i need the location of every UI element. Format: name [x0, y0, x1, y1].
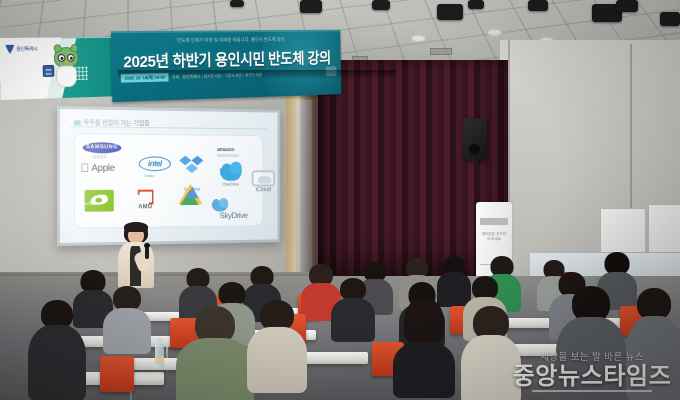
wall-speaker [463, 118, 487, 160]
logo-skydrive: SkyDrive [208, 203, 259, 221]
person-head [404, 298, 444, 348]
speaker-mount-bracket [474, 160, 478, 168]
logo-amazon: amazon webservices [217, 147, 264, 158]
projection-screen: 우주를 만들어 가는 기업들 SAMSUNG 삼성전자  Apple inte… [60, 109, 278, 243]
mascot-eye-left [58, 54, 66, 62]
person-torso [461, 335, 521, 400]
bottle-label [155, 356, 164, 364]
stage-light-3 [437, 4, 463, 20]
person-torso [247, 327, 307, 393]
stage-light-1 [300, 0, 322, 13]
ceiling-downlight-2 [488, 30, 501, 35]
presenter-fringe [124, 222, 148, 232]
logo-nvidia [85, 190, 114, 212]
microphone-icon [145, 246, 149, 259]
slide-bullet-icon [74, 120, 81, 125]
circuit-pattern-icon [75, 66, 88, 80]
logo-samsung: SAMSUNG [83, 142, 122, 153]
onedrive-cloud-icon [220, 168, 242, 180]
logo-skydrive-label: SkyDrive [208, 210, 259, 220]
icloud-icon [252, 170, 275, 186]
presenter [112, 222, 158, 288]
banner-drop-shadow [118, 70, 396, 79]
logo-icloud-label: iCloud [248, 186, 278, 193]
stage-light-5 [528, 0, 548, 11]
google-drive-icon [178, 184, 202, 205]
logo-intel-caption: inside [144, 173, 154, 178]
stage-light-4 [468, 0, 484, 9]
city-logo-label: 용인특례시 [16, 46, 37, 53]
dropbox-icon [179, 153, 205, 178]
semiconductor-owl-mascot-icon [50, 47, 83, 91]
logo-icloud: iCloud [248, 170, 278, 193]
person-torso [103, 308, 151, 354]
person-torso [28, 325, 86, 400]
person-torso [331, 298, 375, 342]
apple-icon:  [81, 162, 90, 174]
ceiling-downlight-1 [412, 36, 425, 41]
stage-light-7 [616, 0, 638, 12]
ac-vent [480, 218, 508, 225]
logo-apple:  Apple [81, 162, 115, 174]
logo-amazon-caption: webservices [217, 153, 264, 158]
chair-r3-1 [100, 356, 134, 392]
logo-samsung-caption: 삼성전자 [92, 154, 106, 160]
stage-light-9 [230, 0, 244, 7]
banner-main-panel: 반도체 인재가 미래 및 미래를 바꿉니다, 용인시 반도체 강의 2025년 … [111, 30, 341, 102]
audience-person-11 [102, 286, 152, 352]
person-torso [626, 316, 680, 400]
person-torso [556, 317, 626, 400]
audience-person-22 [556, 286, 626, 400]
event-banner: 용인특례시 반도체 인재가 미래 및 미래를 바꿉니다, 용인시 반도체 강의 … [0, 30, 341, 108]
audience-person-13 [330, 278, 376, 340]
logo-amd-label: AMD [135, 204, 156, 210]
logo-amd: AMD [135, 190, 156, 211]
audience-person-17 [28, 300, 86, 400]
audience-person-21 [460, 306, 522, 400]
slide-logo-card: SAMSUNG 삼성전자  Apple intel inside Dropbo… [74, 133, 264, 229]
audience-person-20 [392, 298, 456, 394]
person-torso [176, 338, 254, 400]
projection-screen-frame: 우주를 만들어 가는 기업들 SAMSUNG 삼성전자  Apple inte… [57, 106, 280, 246]
logo-intel: intel [139, 156, 171, 171]
ceiling-vent-1 [430, 48, 452, 55]
logo-onedrive: OneDrive [217, 168, 244, 186]
banner-left-panel: 용인특례시 [0, 37, 116, 100]
bottle-cap [157, 338, 163, 344]
city-emblem-icon [5, 45, 14, 54]
stage-light-2 [372, 0, 390, 10]
audience-person-23 [626, 288, 680, 400]
logo-apple-label: Apple [91, 163, 114, 174]
logo-onedrive-label: OneDrive [217, 182, 244, 187]
amd-icon [137, 190, 153, 205]
ac-label: 에어컨은 건드리지 마세요 [481, 232, 507, 243]
city-logo: 용인특례시 [5, 45, 37, 54]
banner-supertext: 반도체 인재가 미래 및 미래를 바꿉니다, 용인시 반도체 강의 [124, 36, 332, 45]
chip-icon [43, 65, 55, 77]
logo-google-drive [175, 184, 207, 205]
stage-light-8 [660, 12, 680, 26]
audience-person-19 [246, 300, 308, 390]
lecture-hall-scene: 에어컨은 건드리지 마세요 용인특례시 반도체 인재가 [0, 0, 680, 400]
audience-person-18 [176, 306, 254, 400]
logo-nvidia-label: NVIDIA [84, 202, 96, 206]
person-torso [393, 342, 455, 398]
